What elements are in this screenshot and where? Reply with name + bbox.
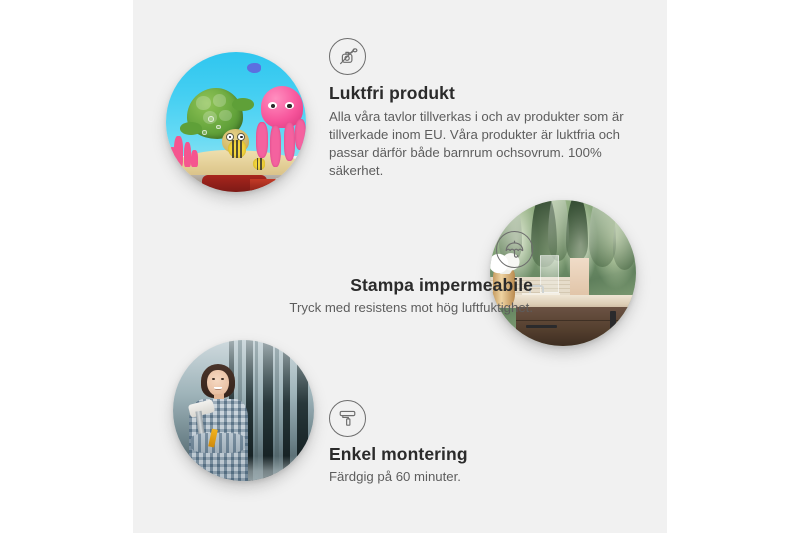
icon-wrap <box>193 231 533 275</box>
cabinet-handle <box>610 311 616 335</box>
feature-body: Färdgig på 60 minuter. <box>329 468 629 486</box>
striped-fish <box>228 140 246 158</box>
leaf-motif <box>548 200 568 261</box>
eye <box>212 378 215 380</box>
bubble <box>202 130 206 134</box>
umbrella-icon <box>496 231 533 268</box>
towel <box>570 258 589 297</box>
octopus-tentacle <box>270 125 281 167</box>
octopus-tentacle <box>284 122 295 161</box>
infographic-canvas: Luktfri produkt Alla våra tavlor tillver… <box>0 0 800 533</box>
painter-image-content <box>173 340 314 481</box>
white-object <box>275 178 296 192</box>
striped-fish <box>253 158 266 169</box>
bubble <box>208 116 214 122</box>
drawer-handle <box>526 325 557 328</box>
turtle-flipper <box>232 98 254 111</box>
octopus-tentacle <box>295 119 306 150</box>
octopus-eye <box>268 102 277 109</box>
feature-block-easy-mounting: Enkel montering Färdgig på 60 minuter. <box>329 400 629 486</box>
coral-branch <box>169 147 176 167</box>
turtle-flipper <box>180 122 202 135</box>
ocean-image-content <box>166 52 306 192</box>
feature-body: Alla våra tavlor tillverkas i och av pro… <box>329 108 629 180</box>
content-panel: Luktfri produkt Alla våra tavlor tillver… <box>133 0 667 533</box>
cartoon-underwater-scene-thumbnail[interactable] <box>166 52 306 192</box>
leaf-motif <box>566 200 588 261</box>
feature-title: Enkel montering <box>329 444 629 465</box>
feature-title: Luktfri produkt <box>329 83 629 104</box>
shell-scale <box>196 96 211 109</box>
coral-branch <box>184 142 191 167</box>
shell-scale <box>213 94 226 106</box>
wooden-vanity <box>516 307 636 346</box>
coral-branch <box>191 150 198 167</box>
shell-scale <box>219 110 231 121</box>
feature-body: Tryck med resistens mot hög luftfuktighe… <box>193 299 533 317</box>
woman-painter-forest-thumbnail[interactable] <box>173 340 314 481</box>
no-spray-bottle-icon <box>329 38 366 75</box>
octopus-eye <box>285 102 294 109</box>
feature-block-odour-free: Luktfri produkt Alla våra tavlor tillver… <box>329 38 629 180</box>
octopus-tentacle <box>256 122 269 158</box>
blue-fish <box>247 63 261 73</box>
leaf-motif <box>589 200 615 267</box>
icon-wrap <box>329 38 629 75</box>
paint-roller-icon <box>329 400 366 437</box>
icon-wrap <box>329 400 629 437</box>
bubble <box>216 125 220 129</box>
feature-title: Stampa impermeabile <box>193 275 533 296</box>
feature-block-waterproof: Stampa impermeabile Tryck med resistens … <box>193 231 533 317</box>
folded-arms <box>191 433 245 453</box>
